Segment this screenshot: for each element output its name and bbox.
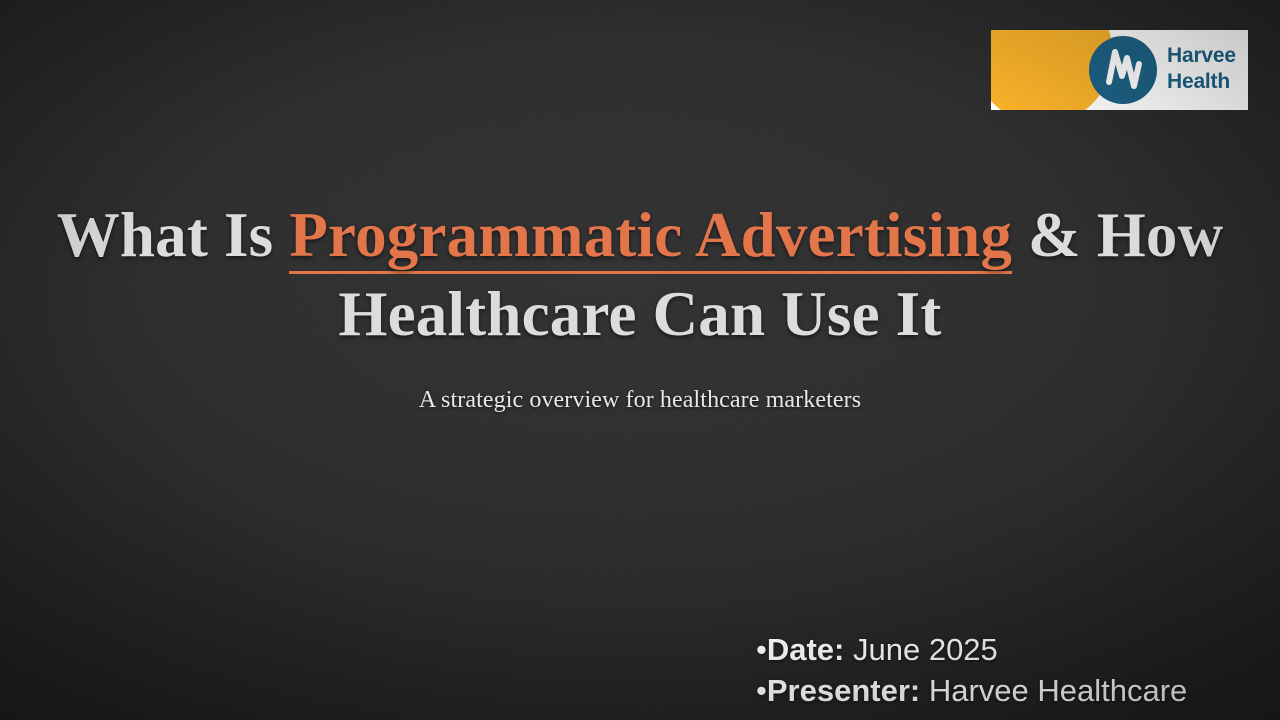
list-item: •Date: June 2025 <box>756 629 1280 670</box>
meta-value-presenter: Harvee Healthcare <box>920 673 1187 708</box>
slide-title: What Is Programmatic Advertising & How H… <box>0 196 1280 354</box>
logo-wordmark-line2: Health <box>1167 69 1236 95</box>
slide-meta-list: •Date: June 2025 •Presenter: Harvee Heal… <box>756 629 1280 711</box>
list-item: •Presenter: Harvee Healthcare <box>756 670 1280 711</box>
title-highlight: Programmatic Advertising <box>289 200 1012 274</box>
bullet-icon: • <box>756 632 767 667</box>
logo-wordmark: Harvee Health <box>1167 43 1236 95</box>
presentation-slide: Harvee Health What Is Programmatic Adver… <box>0 0 1280 720</box>
bullet-icon: • <box>756 673 767 708</box>
meta-label-presenter: Presenter: <box>767 673 920 708</box>
title-part-1: What Is <box>57 200 290 270</box>
logo-heartbeat-mark-icon <box>1089 36 1157 104</box>
logo-wordmark-line1: Harvee <box>1167 43 1236 69</box>
meta-value-date: June 2025 <box>844 632 997 667</box>
meta-label-date: Date: <box>767 632 845 667</box>
harvee-health-logo: Harvee Health <box>991 30 1248 110</box>
slide-subtitle: A strategic overview for healthcare mark… <box>0 385 1280 415</box>
